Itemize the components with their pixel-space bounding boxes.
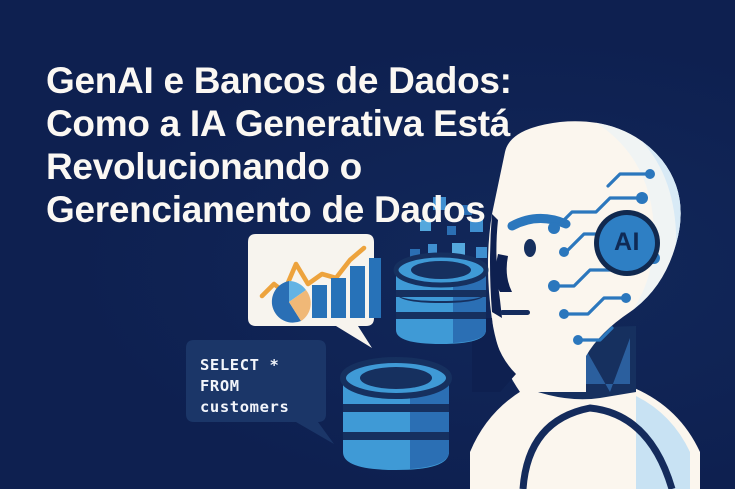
database-icon-top — [396, 255, 486, 344]
database-icon-bottom — [343, 360, 449, 470]
robot-mouth — [500, 310, 530, 315]
robot-eye — [524, 239, 536, 257]
page-title: GenAI e Bancos de Dados: Como a IA Gener… — [46, 59, 606, 231]
chart-card — [248, 234, 381, 348]
ai-badge-label: AI — [600, 228, 654, 256]
banner-root: GenAI e Bancos de Dados: Como a IA Gener… — [0, 0, 735, 489]
sql-code-text: SELECT * FROM customers — [200, 355, 289, 418]
